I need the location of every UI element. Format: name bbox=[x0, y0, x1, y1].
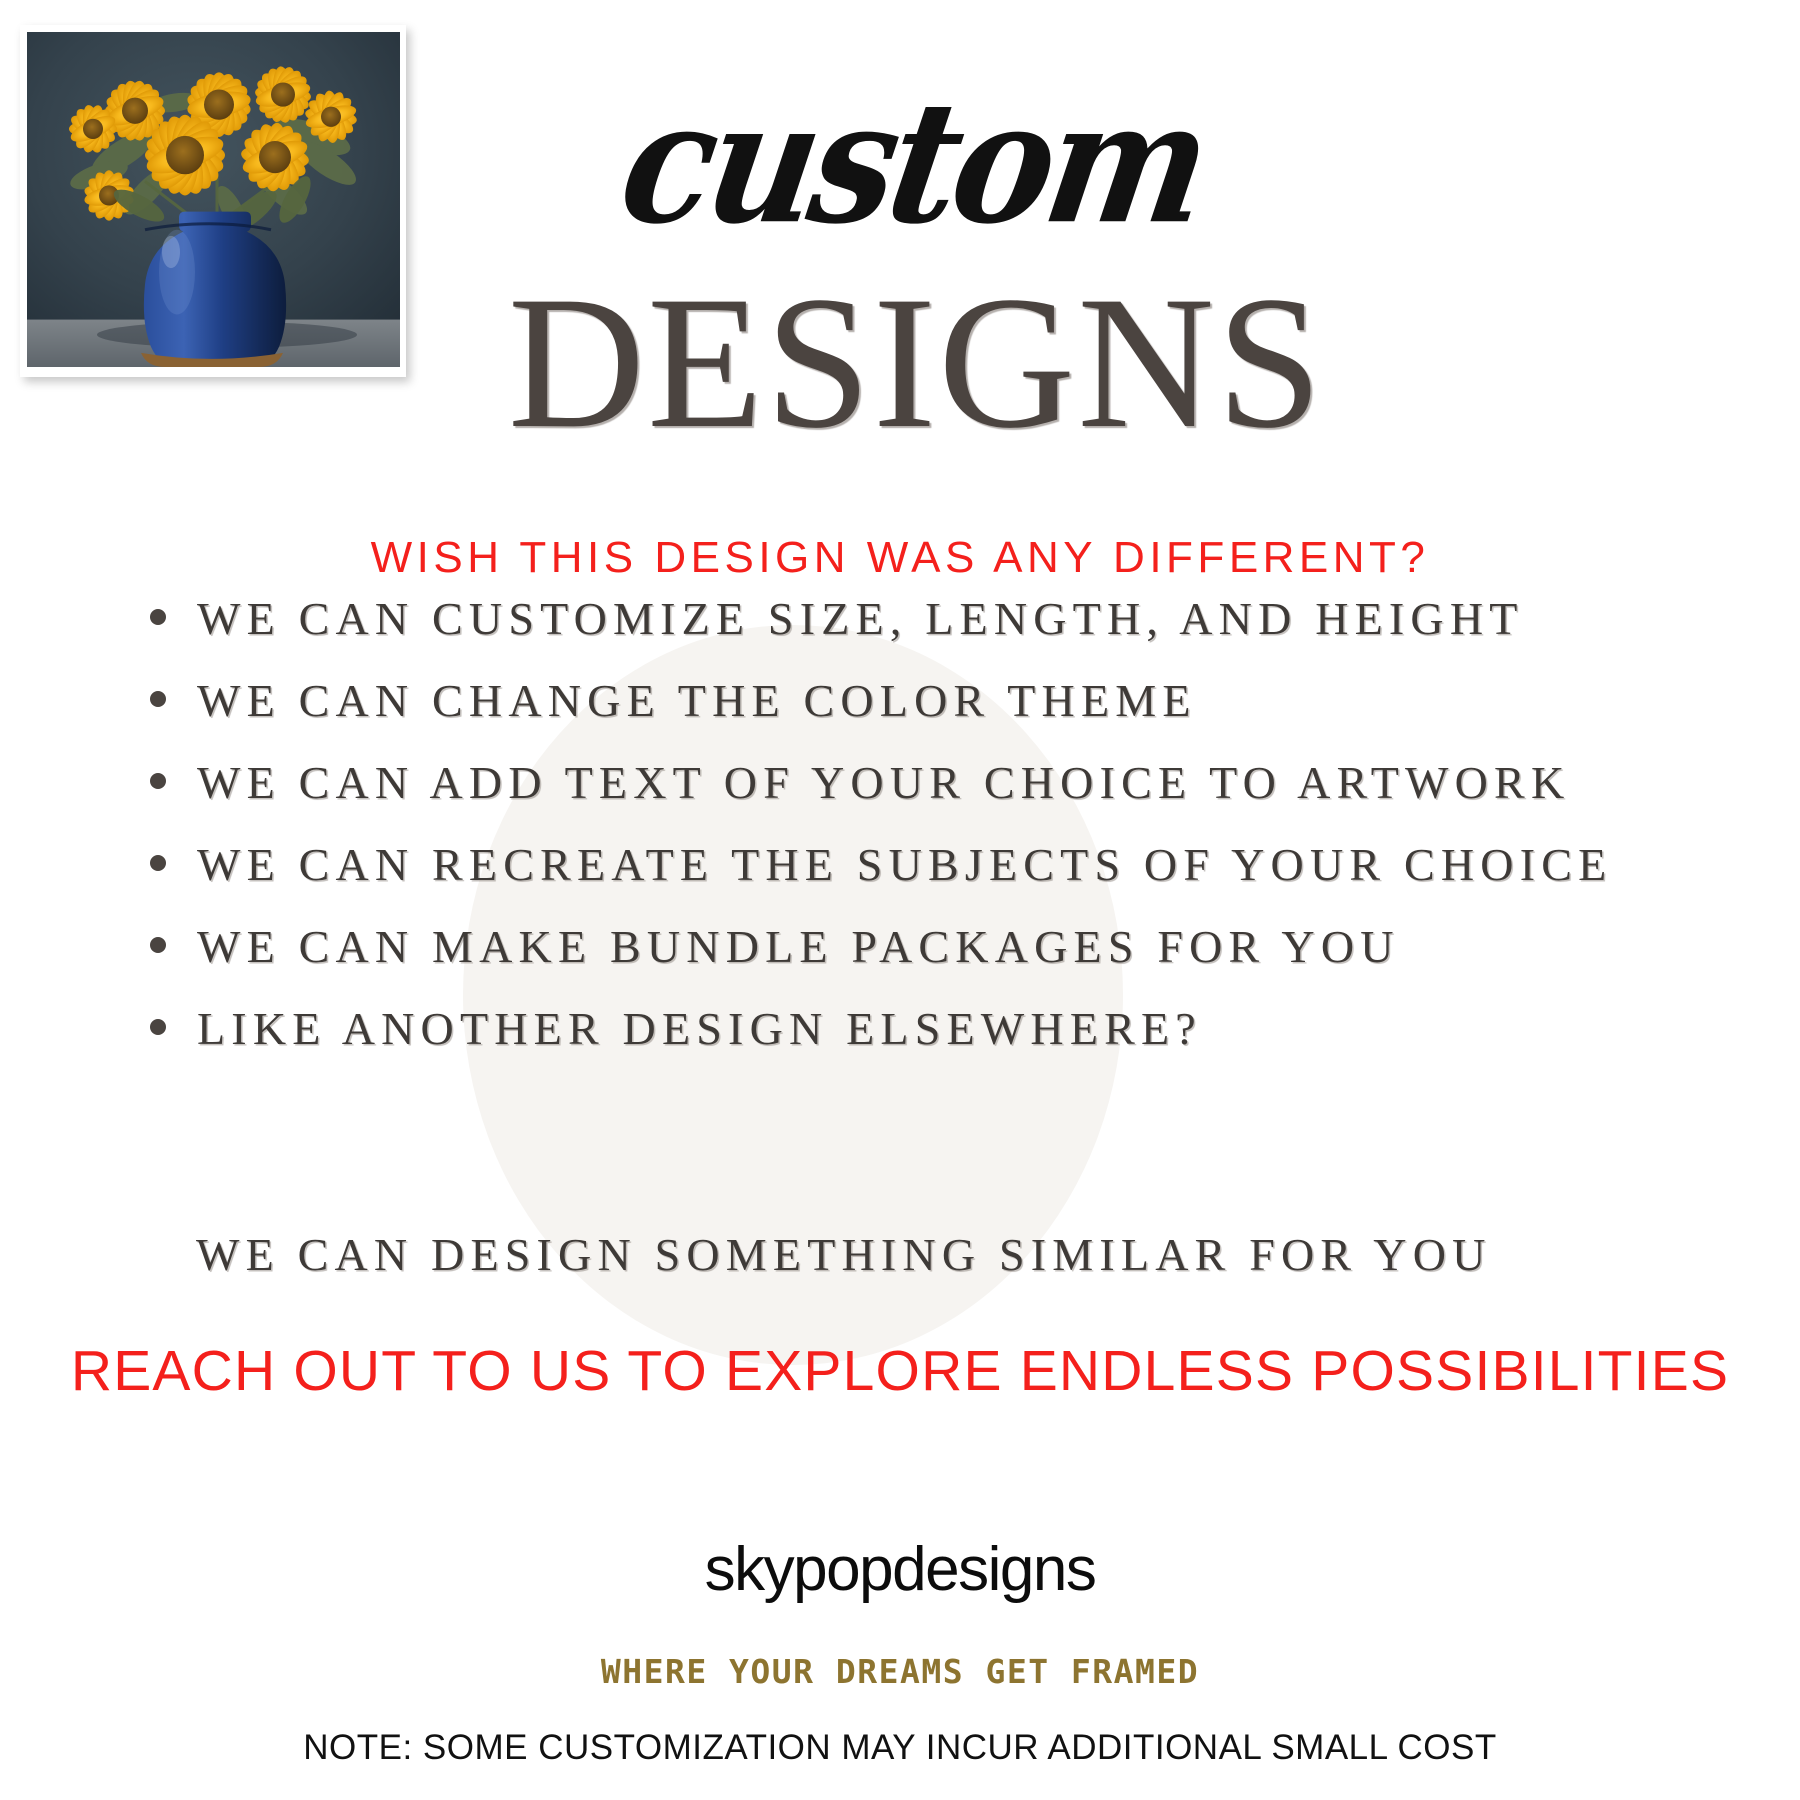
feature-list: WE CAN CUSTOMIZE SIZE, LENGTH, AND HEIGH… bbox=[0, 592, 1800, 1084]
artwork-canvas bbox=[27, 32, 400, 367]
feature-text: WE CAN RECREATE THE SUBJECTS OF YOUR CHO… bbox=[197, 838, 1612, 891]
cta-banner[interactable]: REACH OUT TO US TO EXPLORE ENDLESS POSSI… bbox=[0, 1338, 1800, 1404]
list-item: WE CAN MAKE BUNDLE PACKAGES FOR YOU bbox=[0, 920, 1800, 1002]
feature-continuation-text: WE CAN DESIGN SOMETHING SIMILAR FOR YOU bbox=[0, 1228, 1800, 1281]
feature-text: LIKE ANOTHER DESIGN ELSEWHERE? bbox=[197, 1002, 1202, 1055]
bullet-icon bbox=[150, 1019, 166, 1035]
headline-custom-text: custom bbox=[585, 79, 1214, 247]
brand-name: skypopdesigns bbox=[0, 1534, 1800, 1605]
feature-text: WE CAN MAKE BUNDLE PACKAGES FOR YOU bbox=[197, 920, 1400, 973]
list-item: WE CAN ADD TEXT OF YOUR CHOICE TO ARTWOR… bbox=[0, 756, 1800, 838]
list-item: LIKE ANOTHER DESIGN ELSEWHERE? bbox=[0, 1002, 1800, 1084]
list-item: WE CAN RECREATE THE SUBJECTS OF YOUR CHO… bbox=[0, 838, 1800, 920]
bullet-icon bbox=[150, 773, 166, 789]
brand-tagline: WHERE YOUR DREAMS GET FRAMED bbox=[0, 1652, 1800, 1691]
product-thumbnail-framed-art[interactable] bbox=[20, 25, 406, 377]
bullet-icon bbox=[150, 937, 166, 953]
sunflower-painting-icon bbox=[27, 32, 400, 367]
list-item: WE CAN CHANGE THE COLOR THEME bbox=[0, 674, 1800, 756]
list-item: WE CAN CUSTOMIZE SIZE, LENGTH, AND HEIGH… bbox=[0, 592, 1800, 674]
footnote-disclaimer: NOTE: SOME CUSTOMIZATION MAY INCUR ADDIT… bbox=[0, 1728, 1800, 1768]
bullet-icon bbox=[150, 855, 166, 871]
subtitle-question: WISH THIS DESIGN WAS ANY DIFFERENT? bbox=[0, 533, 1800, 583]
bullet-icon bbox=[150, 691, 166, 707]
feature-text: WE CAN CUSTOMIZE SIZE, LENGTH, AND HEIGH… bbox=[197, 592, 1524, 645]
headline-designs-text: DESIGNS bbox=[508, 268, 1324, 458]
bullet-icon bbox=[150, 609, 166, 625]
feature-text: WE CAN ADD TEXT OF YOUR CHOICE TO ARTWOR… bbox=[197, 756, 1570, 809]
feature-text: WE CAN CHANGE THE COLOR THEME bbox=[197, 674, 1197, 727]
